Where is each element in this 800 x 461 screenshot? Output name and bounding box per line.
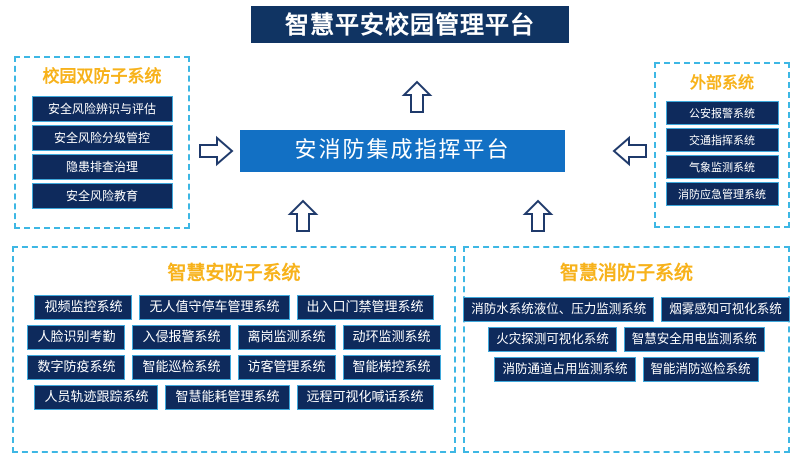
node-campus-item[interactable]: 安全风险辨识与评估 <box>32 96 173 122</box>
center-platform-title: 安消防集成指挥平台 <box>294 140 510 162</box>
panel-external-systems: 外部系统 公安报警系统 交通指挥系统 气象监测系统 消防应急管理系统 <box>654 62 790 228</box>
panel-fire-title: 智慧消防子系统 <box>465 264 788 283</box>
panel-campus-items: 安全风险辨识与评估 安全风险分级管控 隐患排查治理 安全风险教育 <box>16 96 188 209</box>
node-external-item[interactable]: 消防应急管理系统 <box>666 182 779 206</box>
panel-campus-dual-prevention: 校园双防子系统 安全风险辨识与评估 安全风险分级管控 隐患排查治理 安全风险教育 <box>14 56 190 229</box>
node-external-item[interactable]: 交通指挥系统 <box>666 128 779 152</box>
node-campus-item[interactable]: 隐患排查治理 <box>32 154 173 180</box>
page-title: 智慧平安校园管理平台 <box>285 13 535 37</box>
node-external-item[interactable]: 公安报警系统 <box>666 101 779 125</box>
node-row: 数字防疫系统 智能巡检系统 访客管理系统 智能梯控系统 <box>27 355 440 380</box>
arrow-up-icon <box>521 199 555 233</box>
node-fire-item[interactable]: 智能消防巡检系统 <box>643 357 759 382</box>
node-security-item[interactable]: 访客管理系统 <box>238 355 336 380</box>
node-row: 消防水系统液位、压力监测系统 烟雾感知可视化系统 <box>463 297 790 322</box>
node-security-item[interactable]: 智慧能耗管理系统 <box>165 385 289 410</box>
node-fire-item[interactable]: 消防通道占用监测系统 <box>494 357 635 382</box>
panel-external-title: 外部系统 <box>656 75 788 91</box>
node-fire-item[interactable]: 智慧安全用电监测系统 <box>624 327 765 352</box>
node-security-item[interactable]: 入侵报警系统 <box>132 325 230 350</box>
node-security-item[interactable]: 离岗监测系统 <box>238 325 336 350</box>
node-external-item[interactable]: 气象监测系统 <box>666 155 779 179</box>
node-security-item[interactable]: 动环监测系统 <box>343 325 441 350</box>
node-row: 火灾探测可视化系统 智慧安全用电监测系统 <box>488 327 765 352</box>
arrow-up-icon <box>286 199 320 233</box>
node-security-item[interactable]: 智能梯控系统 <box>343 355 441 380</box>
node-security-item[interactable]: 人员轨迹跟踪系统 <box>34 385 158 410</box>
panel-external-items: 公安报警系统 交通指挥系统 气象监测系统 消防应急管理系统 <box>656 101 788 206</box>
node-row: 消防通道占用监测系统 智能消防巡检系统 <box>494 357 758 382</box>
panel-security-title: 智慧安防子系统 <box>14 264 454 283</box>
node-fire-item[interactable]: 烟雾感知可视化系统 <box>661 297 790 322</box>
panel-smart-fire: 智慧消防子系统 消防水系统液位、压力监测系统 烟雾感知可视化系统 火灾探测可视化… <box>463 246 790 453</box>
platform-header-banner: 智慧平安校园管理平台 <box>251 6 569 43</box>
arrow-up-icon <box>400 80 434 114</box>
panel-campus-title: 校园双防子系统 <box>16 69 188 86</box>
node-security-item[interactable]: 远程可视化喊话系统 <box>297 385 434 410</box>
node-row: 视频监控系统 无人值守停车管理系统 出入口门禁管理系统 <box>34 295 433 320</box>
node-security-item[interactable]: 出入口门禁管理系统 <box>297 295 434 320</box>
node-campus-item[interactable]: 安全风险分级管控 <box>32 125 173 151</box>
node-security-item[interactable]: 人脸识别考勤 <box>27 325 125 350</box>
panel-fire-rows: 消防水系统液位、压力监测系统 烟雾感知可视化系统 火灾探测可视化系统 智慧安全用… <box>465 297 788 382</box>
panel-security-rows: 视频监控系统 无人值守停车管理系统 出入口门禁管理系统 人脸识别考勤 入侵报警系… <box>14 295 454 410</box>
node-row: 人脸识别考勤 入侵报警系统 离岗监测系统 动环监测系统 <box>27 325 440 350</box>
node-security-item[interactable]: 视频监控系统 <box>34 295 132 320</box>
panel-smart-security: 智慧安防子系统 视频监控系统 无人值守停车管理系统 出入口门禁管理系统 人脸识别… <box>12 246 456 453</box>
node-security-item[interactable]: 数字防疫系统 <box>27 355 125 380</box>
node-fire-item[interactable]: 消防水系统液位、压力监测系统 <box>463 297 654 322</box>
arrow-left-icon <box>612 133 648 169</box>
node-row: 人员轨迹跟踪系统 智慧能耗管理系统 远程可视化喊话系统 <box>34 385 433 410</box>
node-campus-item[interactable]: 安全风险教育 <box>32 183 173 209</box>
node-security-item[interactable]: 无人值守停车管理系统 <box>139 295 289 320</box>
node-fire-item[interactable]: 火灾探测可视化系统 <box>488 327 617 352</box>
center-integrated-platform-banner[interactable]: 安消防集成指挥平台 <box>240 130 565 172</box>
arrow-right-icon <box>198 133 234 169</box>
node-security-item[interactable]: 智能巡检系统 <box>132 355 230 380</box>
